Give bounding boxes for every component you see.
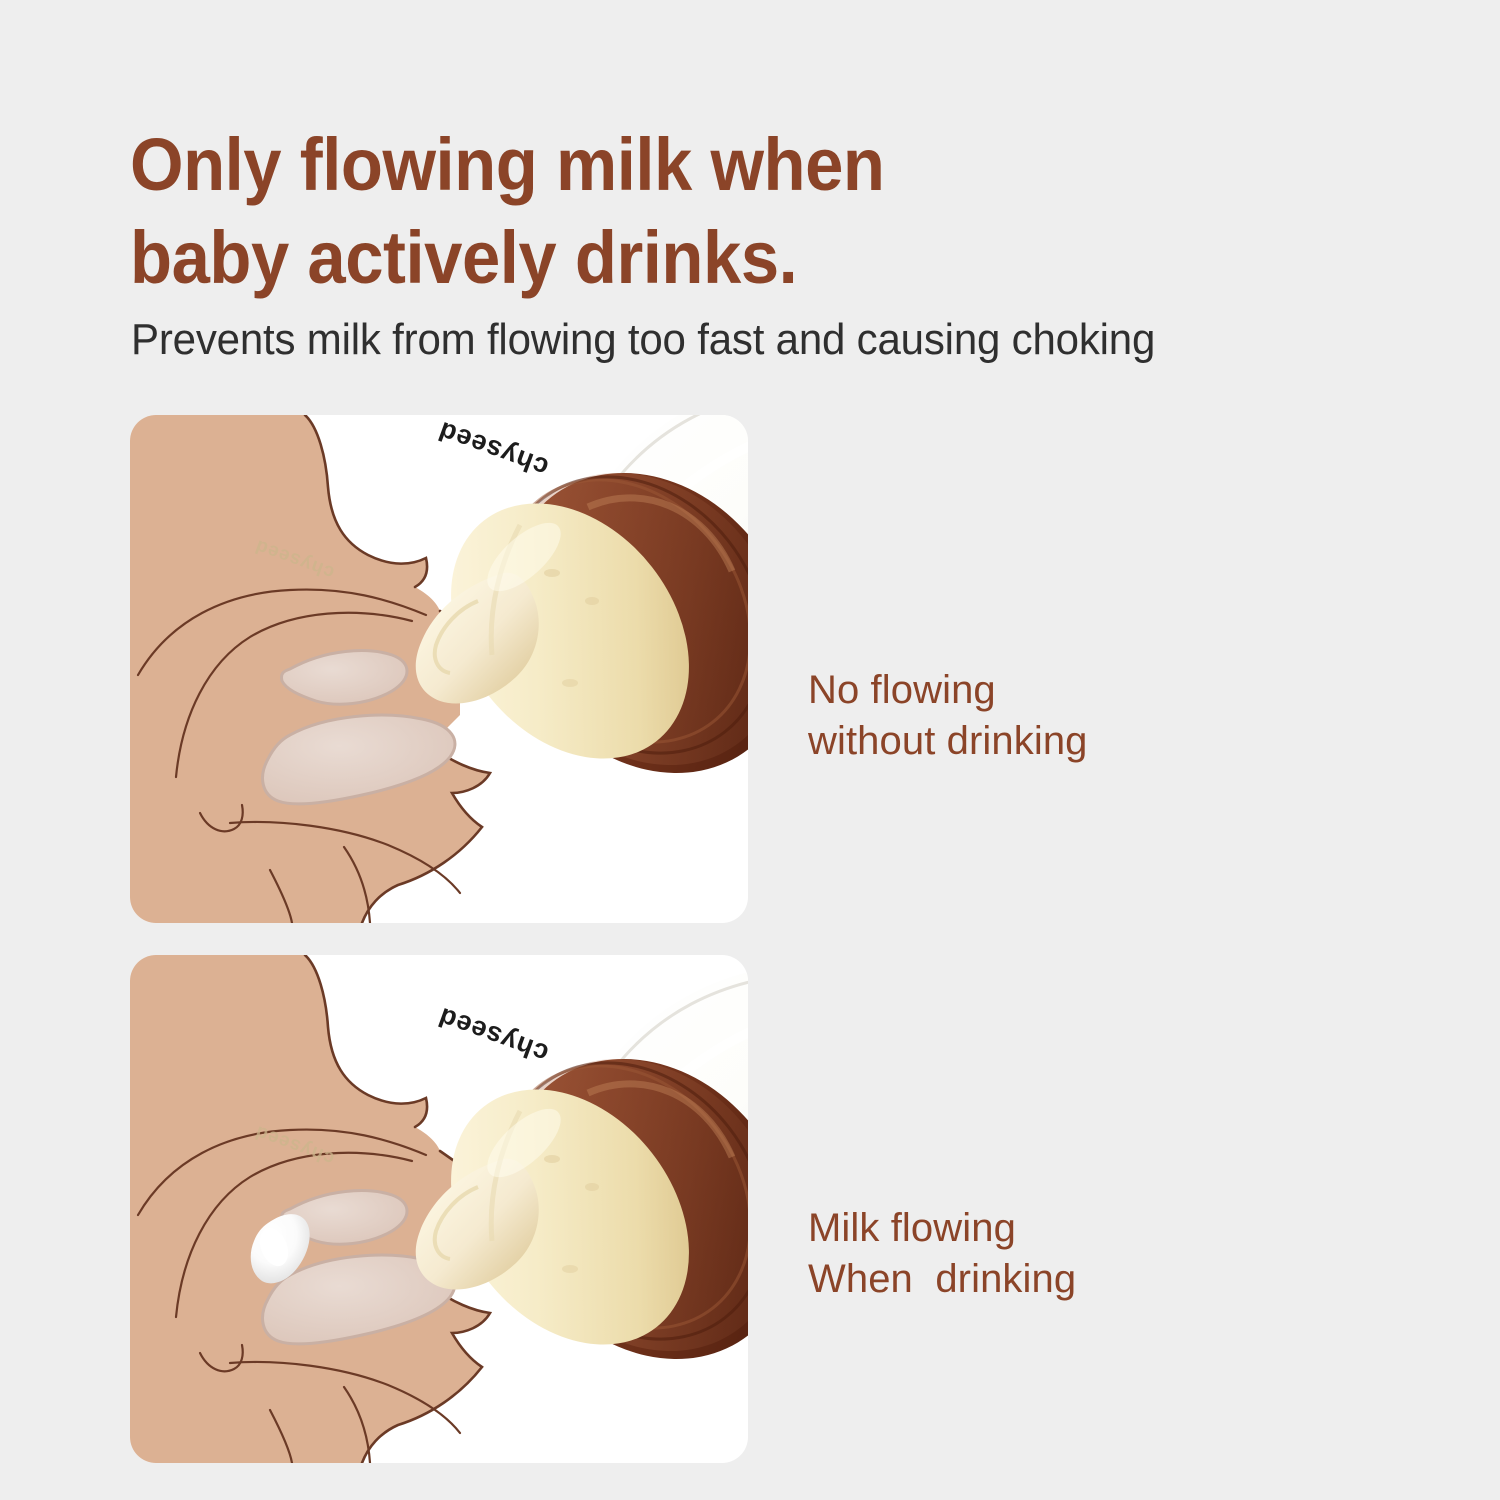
page-subtitle: Prevents milk from flowing too fast and … bbox=[131, 312, 1155, 368]
no-flow-illustration-card: chyseed chyseed bbox=[130, 415, 748, 923]
milk-flowing-caption-line-1: Milk flowing bbox=[808, 1203, 1076, 1254]
baby-head-cross-section-diagram bbox=[130, 415, 748, 923]
no-flow-caption: No flowing without drinking bbox=[808, 665, 1088, 767]
no-flow-caption-line-1: No flowing bbox=[808, 665, 1088, 716]
page-title: Only flowing milk when baby actively dri… bbox=[130, 118, 1060, 304]
milk-flowing-caption: Milk flowing When drinking bbox=[808, 1203, 1076, 1305]
no-flow-caption-line-2: without drinking bbox=[808, 716, 1088, 767]
milk-flowing-caption-line-2: When drinking bbox=[808, 1254, 1076, 1305]
page-title-line-2: baby actively drinks. bbox=[130, 211, 1060, 304]
milk-flowing-illustration-card: chyseed chyseed bbox=[130, 955, 748, 1463]
page-title-line-1: Only flowing milk when bbox=[130, 118, 1060, 211]
